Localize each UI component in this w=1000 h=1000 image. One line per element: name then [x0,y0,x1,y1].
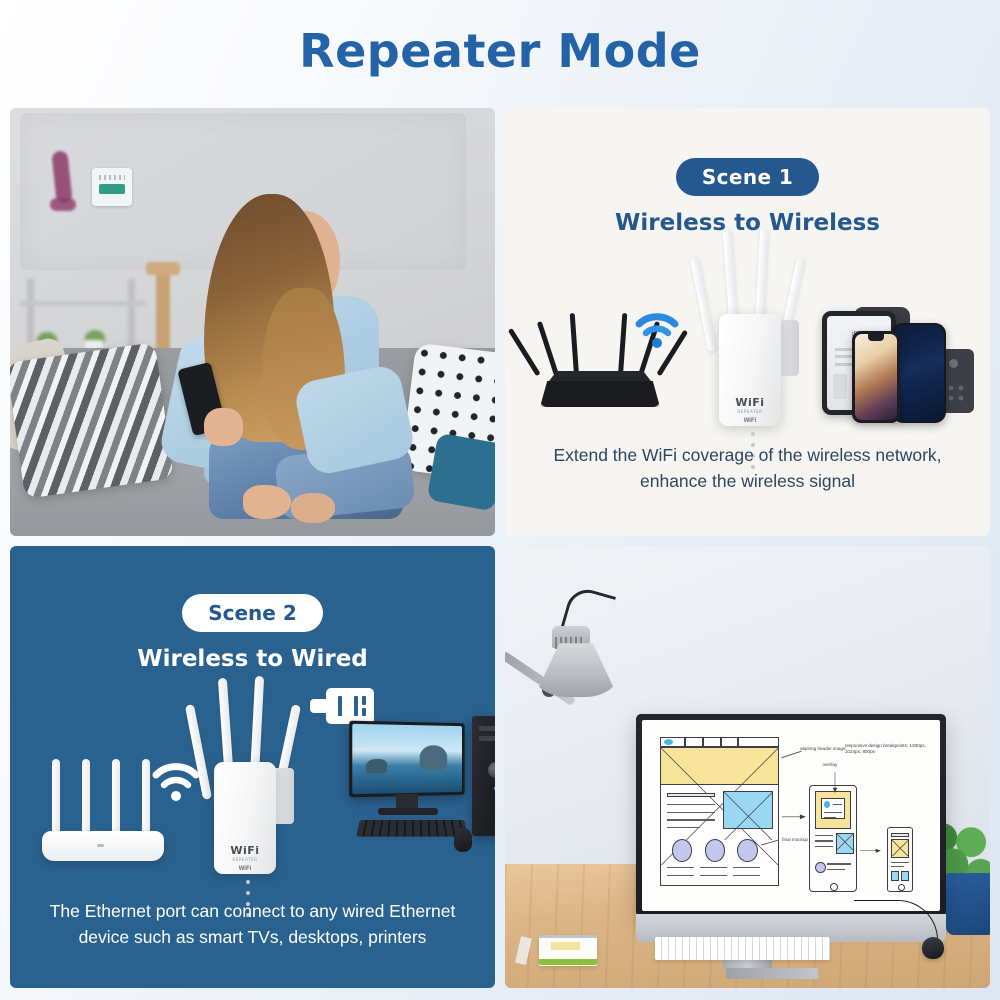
router-body [540,381,660,407]
pc-keyboard [356,820,468,837]
pc-mouse [454,828,472,852]
scene1-panel: Scene 1 Wireless to Wireless [505,108,990,536]
wallpaper-rock [366,759,387,773]
monitor-screen: aspiring header image responsive design … [642,720,940,911]
pc-status-led [494,786,495,791]
router-antenna [570,313,579,375]
wireframe-nav-div [737,737,739,747]
wireframe-avatar [737,839,758,862]
smartphone-notch [868,334,885,341]
shelf-board [20,301,146,306]
wireframe-nav-div [702,737,704,747]
annotation-breakpoints: responsive design breakpoints: 1280px, 1… [845,743,941,755]
annotation-final-mockup: final mockup [782,837,808,843]
thermostat-vents [99,175,125,180]
wireframe-text-line [667,875,694,876]
scene2-panel: Scene 2 Wireless to Wired [10,546,495,988]
flow-arrow [860,846,881,856]
wireframe-text-line [815,835,833,836]
wood-stand-top [146,262,180,275]
page-title: Repeater Mode [0,24,1000,78]
panel-grid: Scene 1 Wireless to Wireless [10,108,990,988]
desk-plant-pot [946,873,990,935]
wireframe-overlay-logo [824,801,830,808]
wallpaper-rock [420,746,448,770]
router-antenna [508,328,541,376]
smartphone-iphone-screen [855,334,897,420]
wireframe-home-button [830,883,838,892]
desk-keyboard [655,937,830,960]
wall-decor-phone-base [50,198,76,211]
wired-connection-group [10,676,495,876]
woman-foot [243,485,292,519]
wireframe-text-line [891,862,910,863]
smartphone-iphone [852,331,900,423]
ethernet-pin [338,696,342,716]
desk-workstation-photo: aspiring header image responsive design … [505,546,990,988]
wireframe-text-line [824,812,842,813]
flow-arrow [782,812,806,822]
wireframe-avatar [815,862,826,874]
router-antenna [618,313,627,375]
monitor-base [378,808,438,815]
wireframe-nav-div [684,737,686,747]
wireframe-text-line [827,863,851,864]
wireframe-text-line [833,804,842,805]
woman-hand [204,408,243,447]
pc-drive-bay [479,726,495,731]
wireframe-nav-div [720,737,722,747]
annotation-header-image: aspiring header image [800,746,845,752]
wireframe-phone-tile [891,871,899,881]
wireframe-text-line [667,827,700,828]
desktop-monitor: aspiring header image responsive design … [636,714,946,917]
living-room-photo [10,108,495,536]
notepad-sticky-note [551,942,580,950]
router-antenna [537,321,559,376]
wireframe-title-bar [667,793,715,798]
wireframe-header-image [660,747,779,785]
wireframe-mockup: aspiring header image responsive design … [642,720,940,911]
wireframe-logo [664,739,673,745]
thermostat-display [99,184,125,194]
woman-foot [291,493,335,523]
smartphone-galaxy [892,323,946,423]
pc-monitor-screen [352,724,462,794]
pc-monitor [349,721,465,798]
wireframe-text-line [700,867,727,868]
ethernet-pin [354,696,358,716]
pc-tower [472,716,495,836]
ethernet-pin [362,708,366,716]
repeater-led [246,891,250,895]
cushion-striped [10,342,174,499]
wireframe-text-line [891,866,904,867]
wireframe-text-line [733,875,760,876]
scene1-badge: Scene 1 [676,158,819,196]
desk-mouse [922,937,944,959]
repeater-led [246,880,250,884]
wireframe-phone-nav [891,833,910,837]
desk-scene: aspiring header image responsive design … [505,546,990,988]
scene2-header: Scene 2 Wireless to Wired [10,594,495,672]
repeater-brand-subtext: REPEATER [719,409,781,414]
wireframe-text-line [824,817,836,818]
wireframe-avatar [672,839,693,862]
repeater-antenna [690,256,717,352]
wireframe-avatar [705,839,726,862]
wireframe-text-line [667,867,694,868]
repeater-brand-text: WiFi [735,396,764,409]
wireframe-text-line [667,819,715,820]
ethernet-pin [362,696,366,705]
smartphone-galaxy-screen [894,325,944,421]
scene1-caption: Extend the WiFi coverage of the wireless… [533,442,962,495]
console-buttons [946,383,966,403]
repeater-brand-label: WiFi REPEATER [719,396,781,414]
wireframe-phone-header [891,839,910,858]
wireframe-text-line [667,804,715,805]
wifi-repeater-device: WiFi REPEATER WiFi [695,228,815,438]
wireframe-text-line [815,846,833,847]
scene2-subtitle: Wireless to Wired [10,646,495,672]
pc-power-button [488,762,495,778]
scene2-caption: The Ethernet port can connect to any wir… [30,898,475,951]
repeater-brand-sticker: WiFi [719,418,781,424]
overlay-arrow [832,772,838,793]
wireframe-text-line [700,875,727,876]
annotation-overlay: overlay [822,762,837,768]
wireframe-text-line [733,867,760,868]
annotation-leader [781,751,801,759]
monitor-foot [726,968,818,979]
wireframe-text-line [827,869,845,870]
product-infographic: Repeater Mode [0,0,1000,1000]
console-joystick [949,359,958,368]
wireframe-text-line [815,840,833,841]
wireframe-phone-tile [901,871,909,881]
notepad-green-edge [539,959,597,965]
wireframe-text-line [667,812,715,813]
wireframe-phone-frame [887,827,914,892]
client-device-cluster: iPad [800,303,990,433]
desktop-computer [350,716,495,856]
room-scene [10,108,495,536]
wireframe-content-image [723,791,774,829]
scene2-badge: Scene 2 [182,594,323,632]
page-title-wrap: Repeater Mode [0,24,1000,78]
cushion-teal [427,432,495,511]
wireframe-tablet-image [836,833,854,854]
thermostat [92,168,132,206]
pc-drive-bay [479,736,495,741]
wifi-icon-router-side [633,311,681,351]
repeater-led [751,432,755,436]
scene1-header: Scene 1 Wireless to Wireless [505,158,990,236]
